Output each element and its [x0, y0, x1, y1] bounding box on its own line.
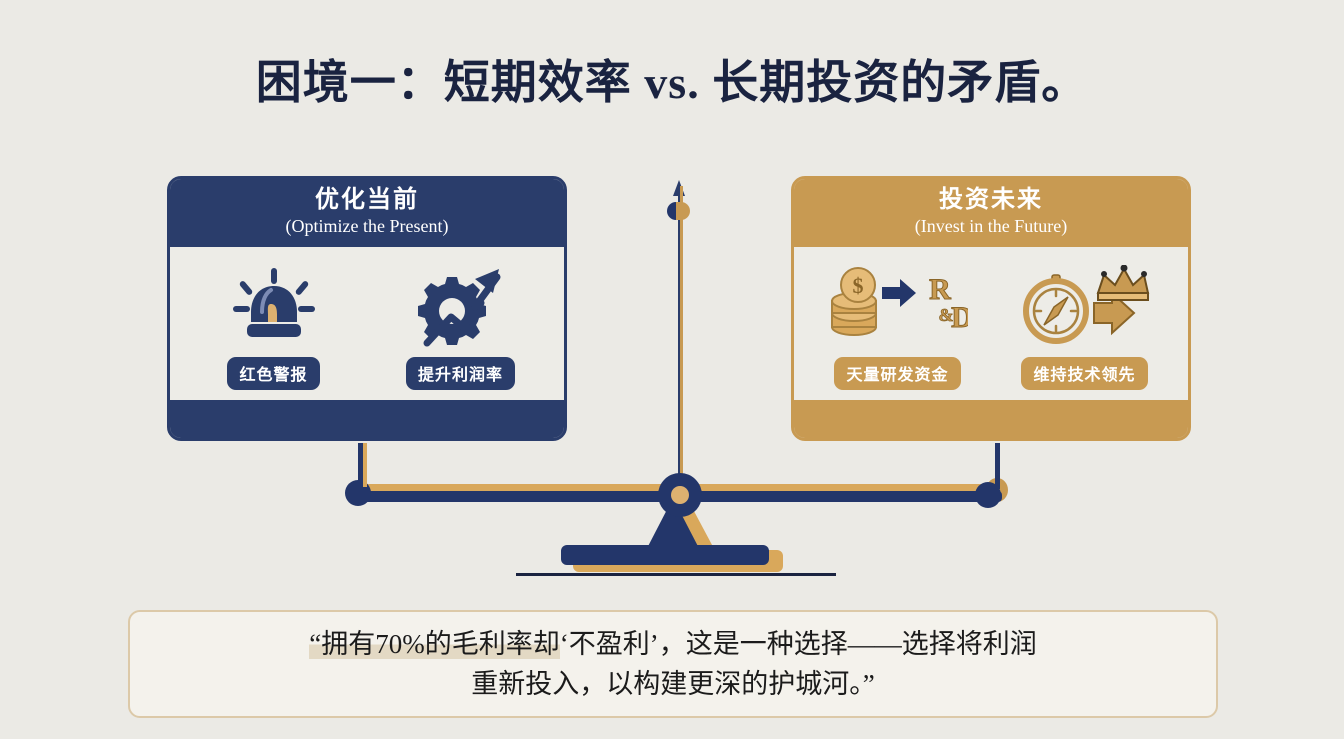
scale-pole — [678, 186, 683, 546]
left-pan-card: 优化当前 (Optimize the Present) — [167, 176, 567, 441]
left-pan-foot — [170, 400, 564, 438]
ground-line — [516, 573, 836, 576]
left-pan-title-en: (Optimize the Present) — [170, 216, 564, 238]
left-pan-header: 优化当前 (Optimize the Present) — [170, 179, 564, 247]
right-pan-card: 投资未来 (Invest in the Future) $ R — [791, 176, 1191, 441]
right-pan-item-rnd: $ R & D 天量研发资金 — [810, 263, 985, 390]
right-pan-chip-lead: 维持技术领先 — [1021, 357, 1147, 390]
left-pan-title-cn: 优化当前 — [170, 187, 564, 215]
left-pan-body: 红色警报 提升利润率 — [170, 247, 564, 400]
gear-growth-arrow-icon — [417, 263, 505, 349]
scale-pole-knob-gold — [676, 202, 690, 220]
fulcrum-pivot-center — [671, 486, 689, 504]
quote-line-1: “拥有70%的毛利率却‘不盈利’，这是一种选择——选择将利润 — [309, 624, 1036, 665]
scale-beam-end-right-gold — [986, 478, 1008, 502]
scale-beam-end-right — [975, 482, 1001, 508]
fulcrum-column — [643, 498, 703, 556]
fulcrum-pivot-ring — [658, 473, 702, 517]
quote-line-1-rest: ‘不盈利’，这是一种选择——选择将利润 — [560, 629, 1037, 659]
right-pan-body: $ R & D 天量研发资金 — [794, 247, 1188, 400]
scale-beam-navy — [357, 491, 1002, 502]
siren-alarm-icon — [231, 263, 317, 349]
right-pan-item-lead: 维持技术领先 — [997, 263, 1172, 390]
right-pan-chip-rnd: 天量研发资金 — [834, 357, 960, 390]
left-pan-chip-alarm: 红色警报 — [227, 357, 319, 390]
scale-hanger-left-gold — [363, 443, 367, 487]
svg-text:R: R — [929, 273, 951, 306]
scale-base-shadow — [573, 550, 783, 572]
right-pan-foot — [794, 400, 1188, 438]
scale-beam-gold — [357, 484, 997, 494]
compass-crown-icon — [1020, 263, 1150, 349]
scale-pole-knob-navy — [667, 202, 685, 220]
left-pan-item-margin: 提升利润率 — [373, 263, 548, 390]
svg-text:D: D — [951, 301, 968, 334]
scale-hanger-right — [995, 443, 1000, 489]
scale-base — [561, 545, 769, 565]
scale-hanger-left — [358, 443, 363, 489]
fulcrum-shadow — [655, 498, 719, 558]
quote-box: “拥有70%的毛利率却‘不盈利’，这是一种选择——选择将利润 重新投入，以构建更… — [128, 610, 1218, 718]
page-title: 困境一：短期效率 vs. 长期投资的矛盾。 — [0, 46, 1344, 112]
svg-text:$: $ — [852, 273, 863, 298]
right-pan-title-en: (Invest in the Future) — [794, 216, 1188, 238]
quote-highlight: “拥有70%的毛利率却 — [309, 629, 559, 659]
quote-line-2: 重新投入，以构建更深的护城河。” — [471, 664, 874, 705]
right-pan-title-cn: 投资未来 — [794, 187, 1188, 215]
right-pan-header: 投资未来 (Invest in the Future) — [794, 179, 1188, 247]
coins-to-rnd-icon: $ R & D — [828, 263, 968, 349]
left-pan-item-alarm: 红色警报 — [186, 263, 361, 390]
scale-beam-end-left — [345, 480, 371, 506]
scale-pole-tip — [673, 180, 685, 196]
left-pan-chip-margin: 提升利润率 — [406, 357, 515, 390]
